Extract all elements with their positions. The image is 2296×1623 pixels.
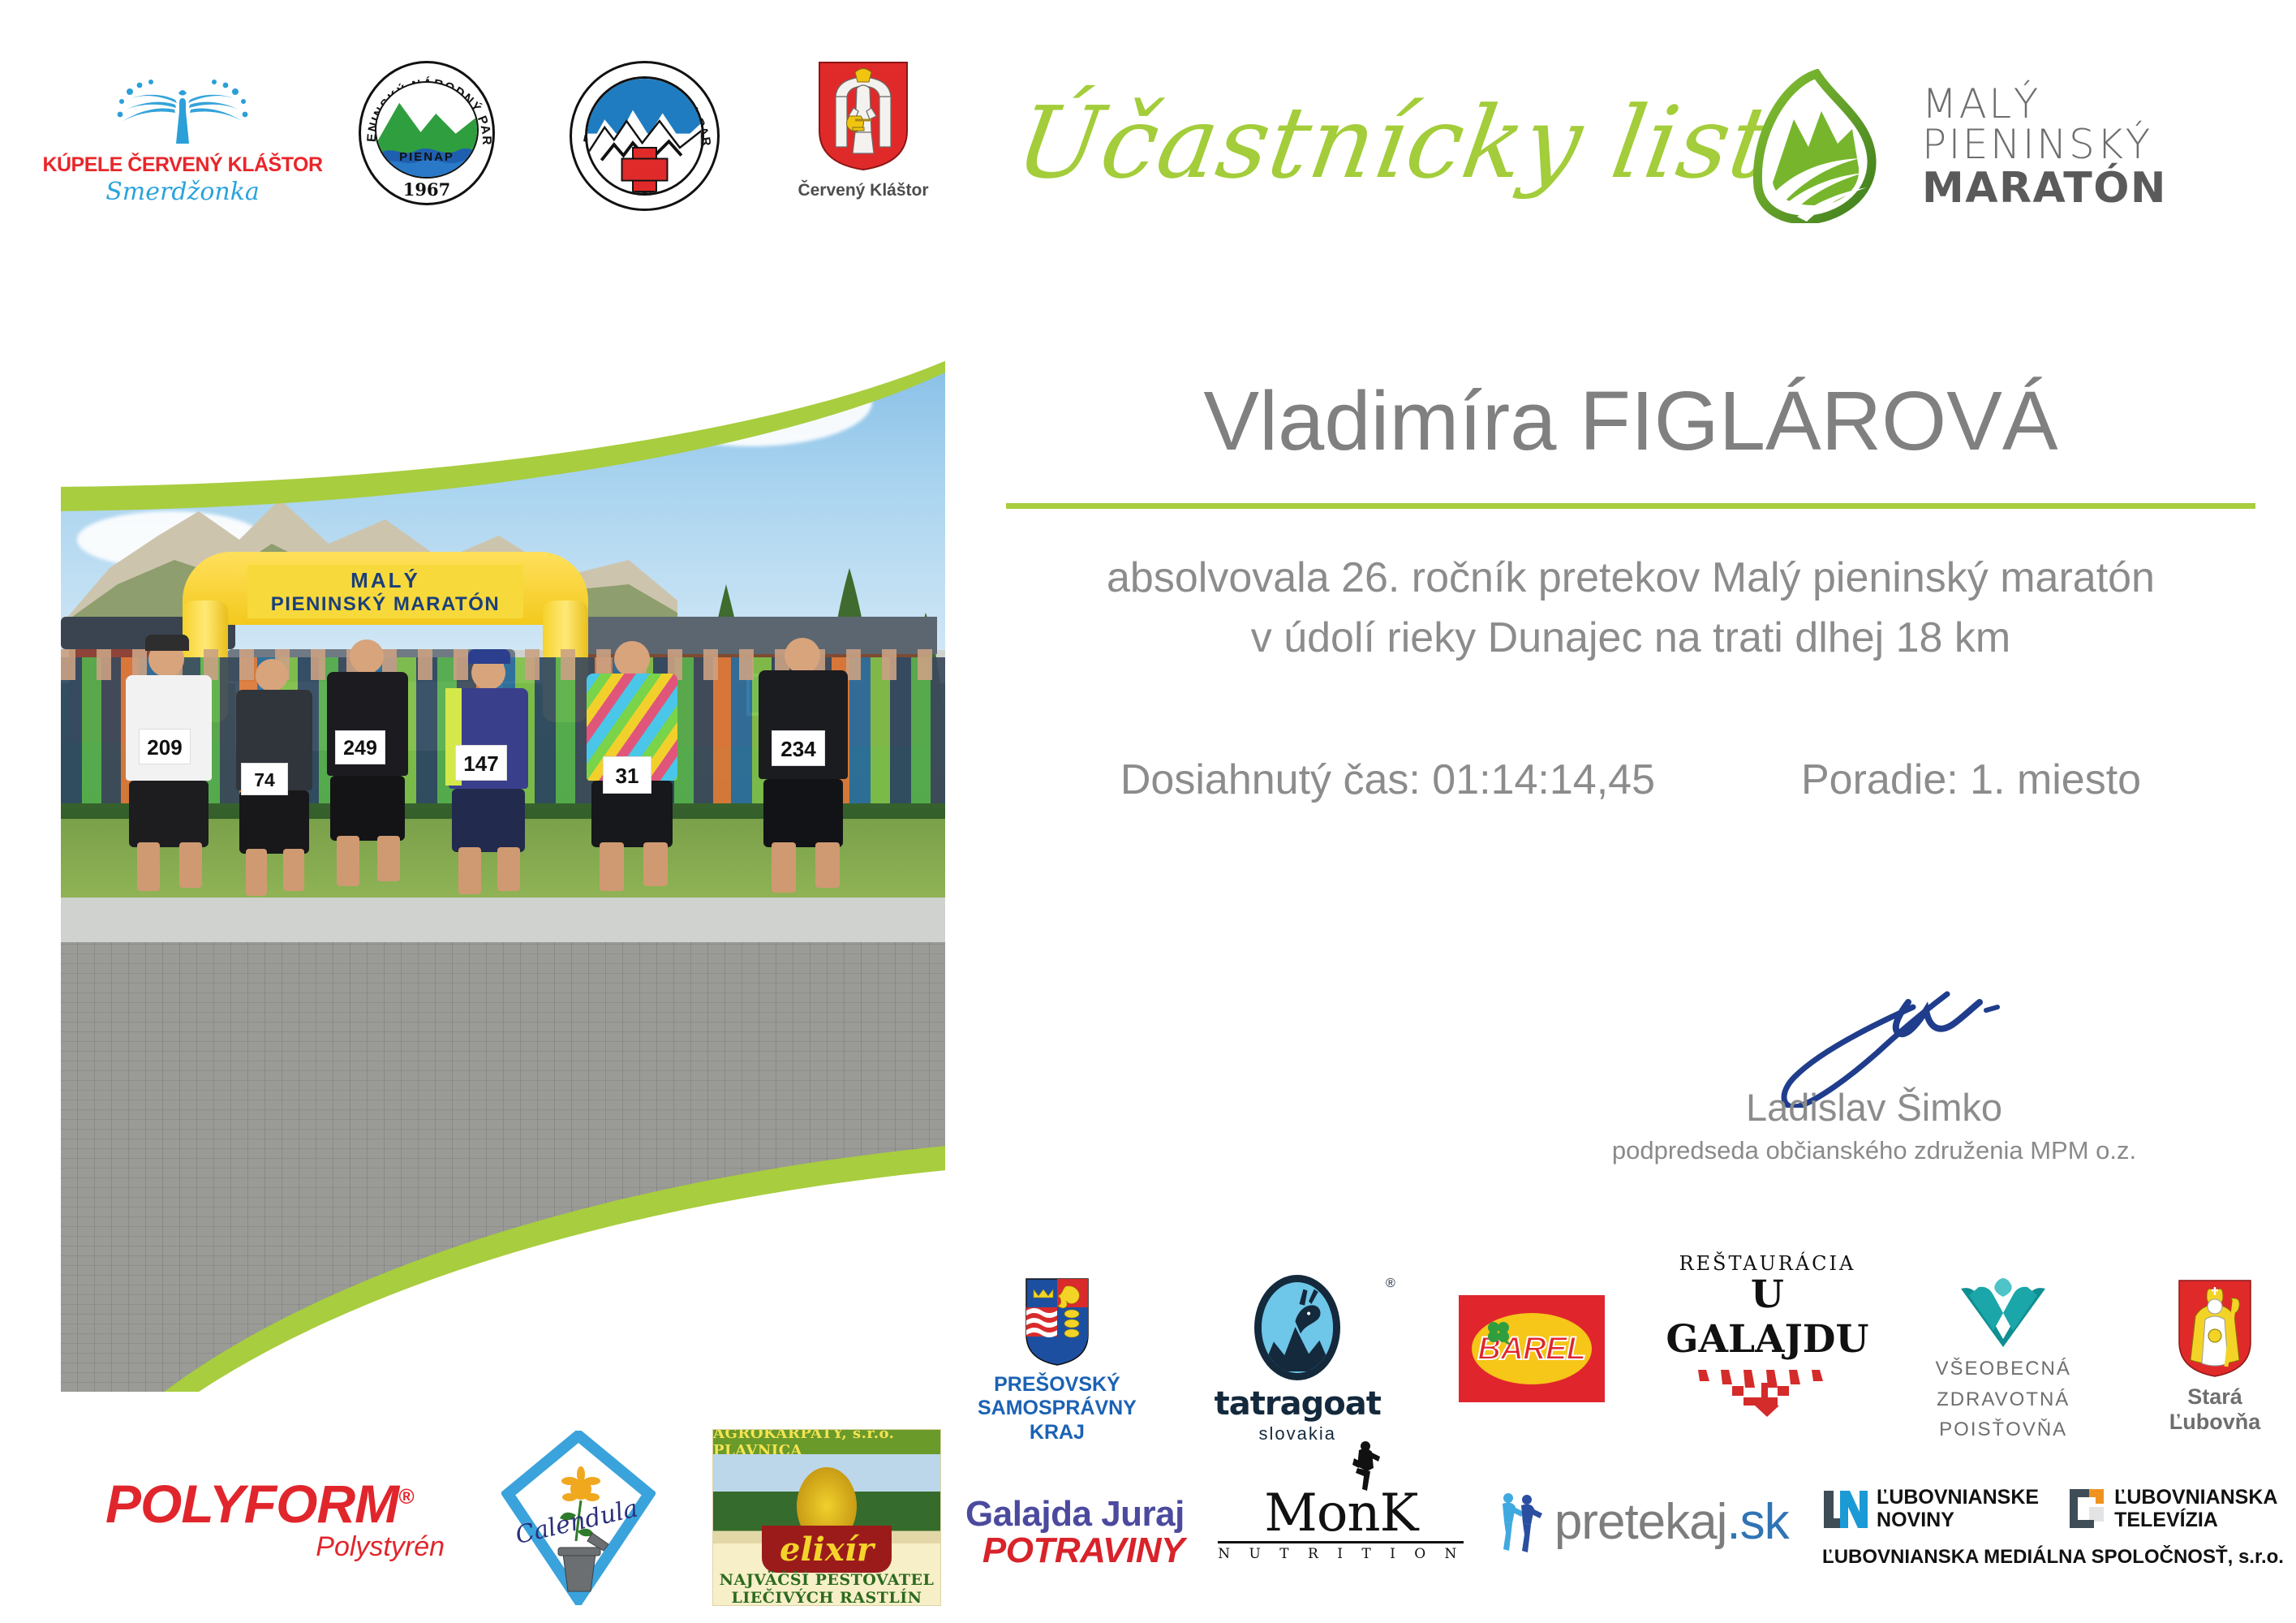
psk-line-3: KRAJ (978, 1421, 1137, 1445)
horska-sluzba-seal: PIENINSKÝ NÁRODNÝ PARK HORSKÁ SLUŽBA (570, 61, 720, 211)
bib-number: 249 (335, 730, 385, 764)
ltv-line-1: ĽUBOVNIANSKA (2114, 1486, 2277, 1509)
folk-ornament-icon (1687, 1370, 1847, 1417)
ugalajdu-line-2: U GALAJDU (1666, 1272, 1868, 1362)
brand-line-1: MALÝ (1922, 84, 2167, 124)
leaf-mountain-icon (1748, 69, 1894, 223)
signature-block: Ladislav Šimko podpredseda občianského z… (1541, 986, 2207, 1165)
cap (145, 635, 189, 651)
tatragoat-wordmark: tatragoat (1215, 1385, 1381, 1423)
brand-lubovnianske-noviny: ĽUBOVNIANSKE NOVINY (1822, 1486, 2039, 1531)
cerveny-klastor-label: Červený Kláštor (798, 181, 928, 200)
handwritten-signature (1541, 986, 2207, 1091)
participant-name: Vladimíra FIGLÁROVÁ (1006, 373, 2255, 469)
bib-number: 147 (455, 745, 507, 781)
polyform-wordmark: POLYFORM® (105, 1473, 445, 1535)
sponsor-polyform: POLYFORM® Polystyrén (105, 1473, 445, 1563)
elixir-wordmark: elixír (780, 1530, 874, 1569)
certificate-page: KÚPELE ČERVENÝ KLÁŠTOR Smerdžonka PIENIN… (0, 0, 2296, 1623)
pienap-year: 1967 (361, 179, 492, 200)
logo-kupele-cerveny-klastor: KÚPELE ČERVENÝ KLÁŠTOR Smerdžonka (81, 61, 284, 206)
bib-number: 31 (603, 756, 651, 794)
arch-banner-line-2: PIENINSKÝ MARATÓN (271, 593, 500, 616)
achievement-line-2: v údolí rieky Dunajec na trati dlhej 18 … (1006, 613, 2255, 662)
tatragoat-subtitle: slovakia (1259, 1423, 1336, 1444)
logo-cerveny-klastor: Červený Kláštor (794, 61, 932, 200)
signer-role: podpredseda občianského združenia MPM o.… (1541, 1136, 2207, 1165)
monk-wordmark: MonK (1218, 1487, 1464, 1539)
monk-subtitle: N U T R I T I O N (1218, 1546, 1464, 1562)
sponsor-presovsky-samospravny-kraj: PREŠOVSKÝ SAMOSPRÁVNY KRAJ (978, 1278, 1137, 1445)
pienap-emblem: PIENAP (375, 81, 479, 179)
arch-banner: MALÝ PIENINSKÝ MARATÓN (247, 565, 523, 618)
placement: Poradie: 1. miesto (1801, 756, 2141, 804)
sponsor-lubovnianska-medialna-spolocnost: ĽUBOVNIANSKE NOVINY ĽUBOVNIANSKA TELEVÍZ… (1822, 1486, 2284, 1569)
sponsor-calendula: Calendula (501, 1431, 656, 1605)
sponsor-stara-lubovna: Stará Ľubovňa (2154, 1279, 2276, 1435)
brand-lubovnianska-televizia: ĽUBOVNIANSKA TELEVÍZIA (2066, 1486, 2277, 1531)
polyform-registered-mark: ® (398, 1484, 413, 1509)
kupele-title: KÚPELE ČERVENÝ KLÁŠTOR (42, 153, 322, 177)
ugalajdu-line-1: REŠTAURÁCIA (1679, 1252, 1855, 1275)
vszp-line-3: POISŤOVŇA (1935, 1414, 2070, 1444)
psk-line-2: SAMOSPRÁVNY (978, 1397, 1137, 1421)
running-figures-icon (1498, 1491, 1543, 1552)
pretekaj-domain: .sk (1726, 1494, 1788, 1550)
arch-banner-line-1: MALÝ (350, 568, 420, 593)
stara-lubovna-label: Stará Ľubovňa (2154, 1384, 2276, 1435)
clover-icon (1485, 1319, 1512, 1347)
ltv-monogram-icon (2066, 1487, 2107, 1530)
vszp-label: VŠEOBECNÁ ZDRAVOTNÁ POISŤOVŇA (1935, 1354, 2070, 1444)
agrokarpaty-tagline-1: NAJVÄČŠÍ PESTOVATEL (713, 1571, 940, 1589)
bib-number: 234 (772, 730, 825, 766)
sponsor-row-primary: PREŠOVSKÝ SAMOSPRÁVNY KRAJ ® tat (978, 1225, 2276, 1444)
cap (468, 649, 510, 664)
vszp-line-2: ZDRAVOTNÁ (1935, 1384, 2070, 1414)
stara-lubovna-coat-of-arms-icon (2178, 1279, 2252, 1378)
runner: 249 (304, 633, 434, 901)
cerveny-klastor-shield-icon (818, 61, 909, 171)
galajda-line-1: Galajda Juraj (965, 1494, 1185, 1535)
sponsor-row-secondary: Galajda Juraj POTRAVINY MonK N U T R I T… (965, 1473, 2284, 1595)
lms-footer: ĽUBOVNIANSKA MEDIÁLNA SPOLOČNOSŤ, s.r.o. (1822, 1546, 2284, 1569)
runner: 147 (426, 641, 556, 901)
psk-coat-of-arms-icon (1025, 1278, 1089, 1366)
runner: 234 (734, 633, 876, 901)
sponsor-monk-nutrition: MonK N U T R I T I O N (1218, 1487, 1464, 1562)
pienap-wordmark: PIENAP (376, 150, 477, 164)
event-photo: MALÝ PIENINSKÝ MARATÓN 209 (61, 268, 945, 1392)
finish-time: Dosiahnutý čas: 01:14:14,45 (1120, 756, 1655, 804)
sponsor-row-bottom-left: POLYFORM® Polystyrén (105, 1424, 941, 1611)
pretekaj-wordmark: pretekaj.sk (1554, 1493, 1789, 1551)
horska-sluzba-emblem (585, 76, 704, 196)
vszp-chevron-icon (1954, 1276, 2052, 1354)
sponsor-galajda-juraj-potraviny: Galajda Juraj POTRAVINY (965, 1494, 1185, 1571)
logo-pieninsky-narodny-park: PIENINSKÝ NÁRODNÝ PARK PIENAP 1967 (359, 61, 495, 205)
polyform-subtitle: Polystyrén (105, 1531, 445, 1563)
galajda-line-2: POTRAVINY (965, 1530, 1185, 1571)
sponsor-agrokarpaty-elixir: AGROKARPATY, s.r.o. PLAVNICA elixír NAJV… (712, 1429, 941, 1606)
sponsor-vseobecna-zdravotna-poistovna: VŠEOBECNÁ ZDRAVOTNÁ POISŤOVŇA (1930, 1276, 2076, 1444)
ln-line-2: NOVINY (1877, 1509, 2039, 1531)
ltv-label: ĽUBOVNIANSKA TELEVÍZIA (2114, 1486, 2277, 1531)
ltv-line-2: TELEVÍZIA (2114, 1509, 2277, 1531)
pretekaj-name: pretekaj (1554, 1494, 1727, 1550)
result-stats: Dosiahnutý čas: 01:14:14,45 Poradie: 1. … (1006, 756, 2255, 804)
psk-line-1: PREŠOVSKÝ (978, 1373, 1137, 1397)
ln-label: ĽUBOVNIANSKE NOVINY (1877, 1486, 2039, 1531)
logo-pienap-horska-sluzba: PIENINSKÝ NÁRODNÝ PARK HORSKÁ SLUŽBA (570, 61, 720, 211)
bib-number: 74 (241, 763, 288, 795)
foreground-runners: 209 74 249 (61, 633, 945, 901)
barel-logo: BAREL (1459, 1295, 1605, 1402)
certificate-title: Účastnícky list (1009, 85, 1780, 200)
ln-line-1: ĽUBOVNIANSKE (1877, 1486, 2039, 1509)
running-monk-icon (1346, 1440, 1383, 1491)
media-brands: ĽUBOVNIANSKE NOVINY ĽUBOVNIANSKA TELEVÍZ… (1822, 1486, 2284, 1531)
psk-label: PREŠOVSKÝ SAMOSPRÁVNY KRAJ (978, 1373, 1137, 1445)
runner: 31 (564, 633, 706, 901)
sponsor-barel: BAREL (1459, 1295, 1605, 1402)
brand-wordmark: MALÝ PIENINSKÝ MARATÓN (1922, 84, 2167, 209)
kupele-subtitle: Smerdžonka (105, 178, 260, 206)
sponsor-tatragoat: ® tatragoat slovakia (1215, 1275, 1381, 1444)
brand-line-3: MARATÓN (1922, 167, 2167, 209)
fountain-statue-icon (97, 61, 268, 149)
accent-divider (1006, 503, 2255, 509)
vszp-line-1: VŠEOBECNÁ (1935, 1354, 2070, 1384)
sponsor-restauracia-u-galajdu: REŠTAURÁCIA U GALAJDU (1682, 1252, 1852, 1417)
brand-line-2: PIENINSKÝ (1922, 124, 2167, 165)
certificate-body: Vladimíra FIGLÁROVÁ absolvovala 26. ročn… (1006, 373, 2255, 804)
bib-number: 209 (139, 729, 191, 764)
pienap-seal: PIENINSKÝ NÁRODNÝ PARK PIENAP 1967 (359, 61, 495, 205)
ln-monogram-icon (1822, 1487, 1869, 1530)
achievement-line-1: absolvovala 26. ročník pretekov Malý pie… (1006, 553, 2255, 602)
barel-oval: BAREL (1472, 1313, 1592, 1384)
tatragoat-registered-mark: ® (1386, 1276, 1395, 1291)
top-partner-logos: KÚPELE ČERVENÝ KLÁŠTOR Smerdžonka PIENIN… (81, 61, 932, 211)
maly-pieninsky-maraton-logo: MALÝ PIENINSKÝ MARATÓN (1748, 69, 2167, 223)
sponsor-pretekaj-sk: pretekaj.sk (1498, 1491, 1789, 1552)
agrokarpaty-tagline-2: LIEČIVÝCH RASTLÍN (713, 1589, 940, 1606)
elixir-ribbon: elixír (762, 1526, 892, 1573)
signer-name: Ladislav Šimko (1541, 1085, 2207, 1130)
tatragoat-chamois-icon (1254, 1275, 1340, 1380)
polyform-name: POLYFORM (105, 1474, 398, 1534)
agrokarpaty-header: AGROKARPATY, s.r.o. PLAVNICA (713, 1430, 940, 1454)
